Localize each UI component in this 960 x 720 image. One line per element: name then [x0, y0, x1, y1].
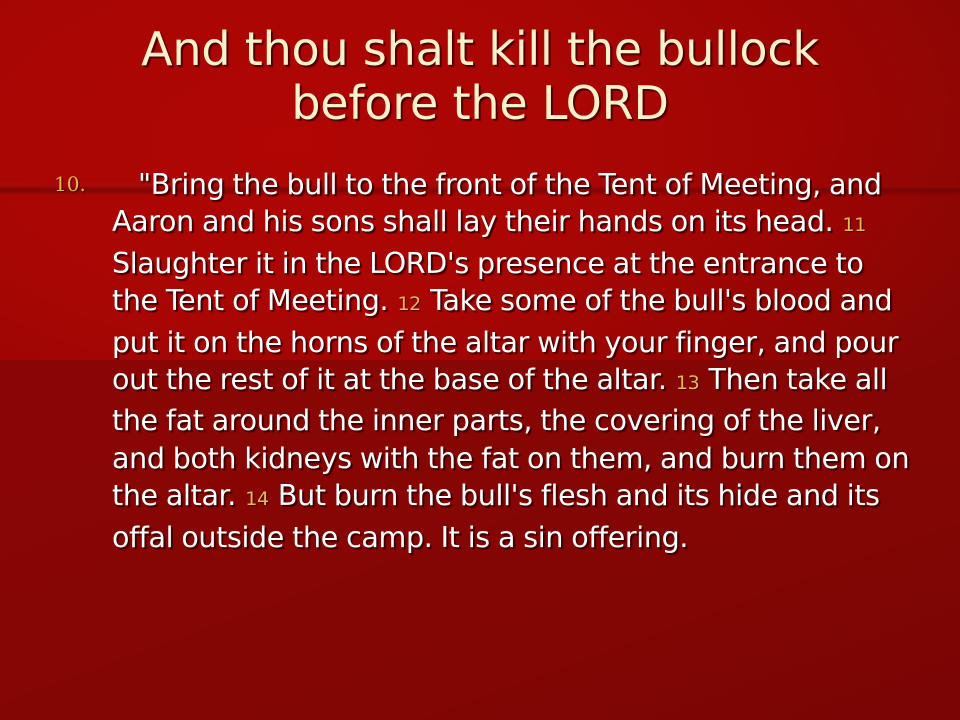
- slide-title: And thou shalt kill the bullock before t…: [0, 22, 960, 130]
- verse-number: 12: [396, 293, 421, 315]
- list-item-marker: 10.: [54, 172, 86, 196]
- list-item-text: "Bring the bull to the front of the Tent…: [112, 166, 916, 556]
- slide-body: 10. "Bring the bull to the front of the …: [48, 166, 916, 556]
- verse-number: 13: [675, 372, 700, 394]
- slide-title-line-1: And thou shalt kill the bullock: [0, 22, 960, 76]
- body-text-run: "Bring the bull to the front of the Tent…: [112, 168, 882, 238]
- list-item: 10. "Bring the bull to the front of the …: [48, 166, 916, 556]
- verse-number: 14: [244, 488, 269, 510]
- verse-number: 11: [842, 214, 867, 236]
- presentation-slide: And thou shalt kill the bullock before t…: [0, 0, 960, 720]
- slide-title-line-2: before the LORD: [0, 76, 960, 130]
